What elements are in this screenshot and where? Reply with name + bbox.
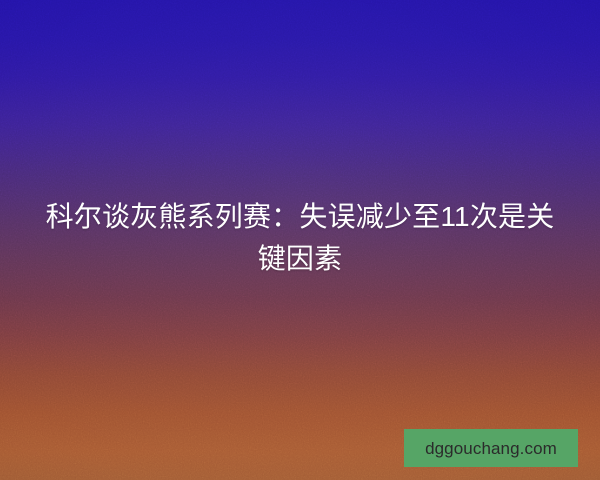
- poster-title: 科尔谈灰熊系列赛：失误减少至11次是关键因素: [0, 196, 600, 280]
- watermark-badge[interactable]: dggouchang.com: [404, 429, 578, 467]
- watermark-url-text: dggouchang.com: [425, 440, 557, 457]
- poster-title-text: 科尔谈灰熊系列赛：失误减少至11次是关键因素: [34, 196, 566, 280]
- poster-canvas: 科尔谈灰熊系列赛：失误减少至11次是关键因素 dggouchang.com: [0, 0, 600, 480]
